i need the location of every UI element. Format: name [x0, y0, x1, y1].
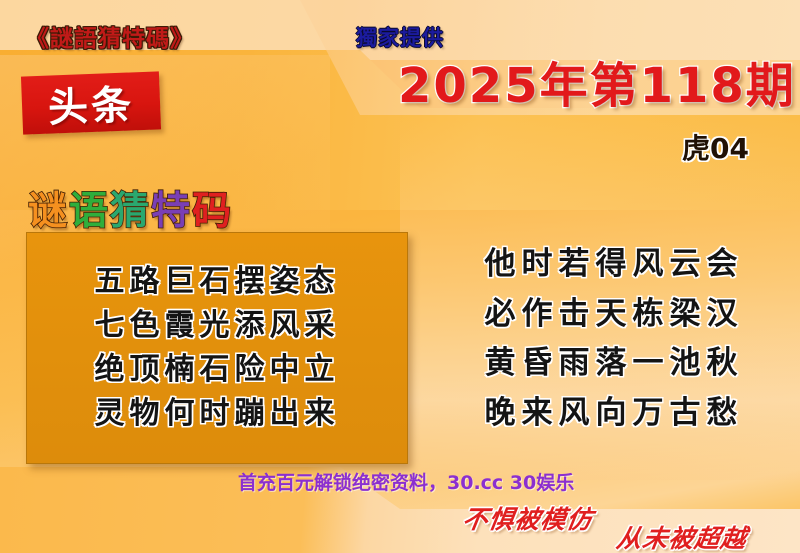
poem-line: 晚来风向万古愁: [440, 389, 788, 439]
slogan-left: 不惧被模仿: [460, 500, 596, 536]
poem-line: 他时若得风云会: [440, 240, 788, 290]
riddle-line: 七色霞光添风采: [27, 304, 407, 348]
riddle-line: 灵物何时蹦出来: [27, 392, 407, 436]
rainbow-subtitle: 谜语猜特码: [28, 180, 233, 236]
issue-number: 2025年第118期: [398, 46, 796, 116]
traditional-title: 《謎語猜特碼》: [26, 19, 194, 53]
rainbow-subtitle-char-4: 码: [192, 189, 233, 234]
slogan-right: 从未被超越: [614, 519, 750, 553]
headline-badge-label: 头条: [47, 72, 135, 133]
poem-block: 他时若得风云会 必作击天栋梁汉 黄昏雨落一池秋 晚来风向万古愁: [440, 240, 788, 438]
poster-canvas: 《謎語猜特碼》 头条 谜语猜特码 五路巨石摆姿态 七色霞光添风采 绝顶楠石险中立…: [0, 0, 800, 553]
headline-badge: 头条: [21, 71, 161, 134]
zodiac-label: 虎04: [682, 127, 749, 167]
rainbow-subtitle-char-0: 谜: [28, 189, 69, 234]
rainbow-subtitle-char-1: 语: [69, 189, 110, 234]
riddle-box: 五路巨石摆姿态 七色霞光添风采 绝顶楠石险中立 灵物何时蹦出来: [26, 232, 408, 464]
rainbow-subtitle-char-2: 猜: [110, 189, 151, 234]
riddle-line: 绝顶楠石险中立: [27, 348, 407, 392]
promo-text: 首充百元解锁绝密资料，30.cc 30娱乐: [238, 468, 574, 495]
rainbow-subtitle-char-3: 特: [151, 189, 192, 234]
poem-line: 必作击天栋梁汉: [440, 290, 788, 340]
poem-line: 黄昏雨落一池秋: [440, 339, 788, 389]
riddle-line: 五路巨石摆姿态: [27, 260, 407, 304]
